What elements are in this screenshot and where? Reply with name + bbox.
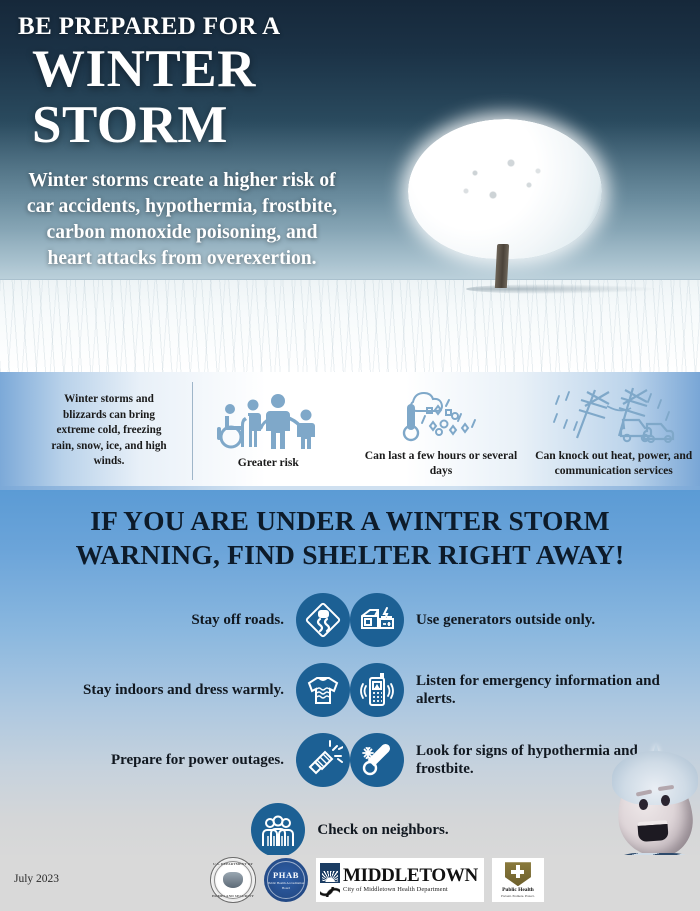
public-health-tagline: Prevent. Promote. Protect. [501,894,535,898]
hero-subtitle: Winter storms create a higher risk of ca… [24,168,340,272]
tip-row: Stay off roads. [0,585,700,655]
band-caption: Can knock out heat, power, and communica… [531,448,696,478]
tip-row: Stay indoors and dress warmly. [0,655,700,725]
tip-label: Listen for emergency information and ale… [416,672,660,709]
tip-row: Prepare for power outages. [0,725,700,795]
tip-stay-indoors: Stay indoors and dress warmly. [40,663,350,717]
hero-text-block: BE PREPARED FOR A WINTER STORM Winter st… [0,0,360,272]
tip-label: Stay off roads. [191,611,284,629]
public-health-title: Public Health [502,887,534,893]
middletown-tagline: City of Middletown Health Department [343,887,478,893]
flashlight-icon [296,733,350,787]
miser-eye-right [661,795,670,806]
public-health-shield-logo: Public Health Prevent. Promote. Protect. [492,858,544,902]
generator-icon [350,593,404,647]
band-item-greater-risk: Greater risk [182,391,355,470]
tip-listen-alerts: Listen for emergency information and ale… [350,663,660,717]
phab-ring [267,861,305,899]
tip-label: Use generators outside only. [416,611,595,629]
main-heading-line1: IF YOU ARE UNDER A WINTER STORM [16,504,684,538]
tip-check-neighbors: Check on neighbors. [251,803,448,857]
phab-accreditation-logo: PHAB Public Health Accreditation Board [264,858,308,902]
band-item-outages: Can knock out heat, power, and communica… [527,384,700,478]
thermometer-snow-cloud-icon [359,384,524,444]
wave-icon [320,887,340,897]
middletown-wordmark-block: MIDDLETOWN City of Middletown Health Dep… [343,866,478,893]
thermometer-icon [350,733,404,787]
band-intro-text: Winter storms and blizzards can bring ex… [0,392,182,469]
band-item-duration: Can last a few hours or several days [355,384,528,478]
tip-use-generators: Use generators outside only. [350,593,660,647]
main-heading-line2: WARNING, FIND SHELTER RIGHT AWAY! [16,538,684,572]
hero-kicker: BE PREPARED FOR A [18,14,346,40]
hero-title-line2: STORM [32,98,346,152]
main-heading: IF YOU ARE UNDER A WINTER STORM WARNING,… [0,490,700,571]
middletown-logo: MIDDLETOWN City of Middletown Health Dep… [316,858,484,902]
downed-power-lines-icon [531,384,696,444]
shield-icon [505,862,531,886]
band-caption: Can last a few hours or several days [359,448,524,478]
group-people-icon [251,803,305,857]
winter-storm-poster: BE PREPARED FOR A WINTER STORM Winter st… [0,0,700,911]
facts-band: Winter storms and blizzards can bring ex… [0,372,700,490]
hero-section: BE PREPARED FOR A WINTER STORM Winter st… [0,0,700,372]
tip-label: Check on neighbors. [317,821,448,839]
tip-stay-off-roads: Stay off roads. [40,593,350,647]
tree-trunk [495,244,509,288]
dhs-seal-bottom-text: HOMELAND SECURITY [211,894,255,898]
tree-crown [408,119,602,259]
middletown-sun-wave-mark [320,863,340,897]
phab-subtitle: Public Health Accreditation Board [264,881,308,889]
hero-title-line1: WINTER [32,42,346,96]
footer-date: July 2023 [14,873,59,885]
people-greater-risk-icon [186,391,351,451]
slippery-road-icon [296,593,350,647]
tip-label: Stay indoors and dress warmly. [83,681,284,699]
footer: July 2023 U.S. DEPARTMENT OF HOMELAND SE… [0,855,700,911]
emergency-radio-icon [350,663,404,717]
band-caption: Greater risk [186,455,351,470]
miser-mouth [637,820,668,842]
miser-hair [612,751,698,805]
miser-eye-left [639,799,648,810]
tips-list: Stay off roads. [0,585,700,865]
sunrise-icon [320,863,340,883]
tip-power-outages: Prepare for power outages. [40,733,350,787]
main-section: IF YOU ARE UNDER A WINTER STORM WARNING,… [0,490,700,911]
cross-icon [511,865,524,878]
dhs-seal-top-text: U.S. DEPARTMENT OF [211,862,255,866]
frost-tree-image [400,119,610,294]
warm-clothing-icon [296,663,350,717]
dhs-seal-logo: U.S. DEPARTMENT OF HOMELAND SECURITY [210,857,256,903]
tip-label: Prepare for power outages. [111,751,284,769]
footer-logos: U.S. DEPARTMENT OF HOMELAND SECURITY PHA… [210,857,544,903]
middletown-wordmark: MIDDLETOWN [343,866,478,885]
